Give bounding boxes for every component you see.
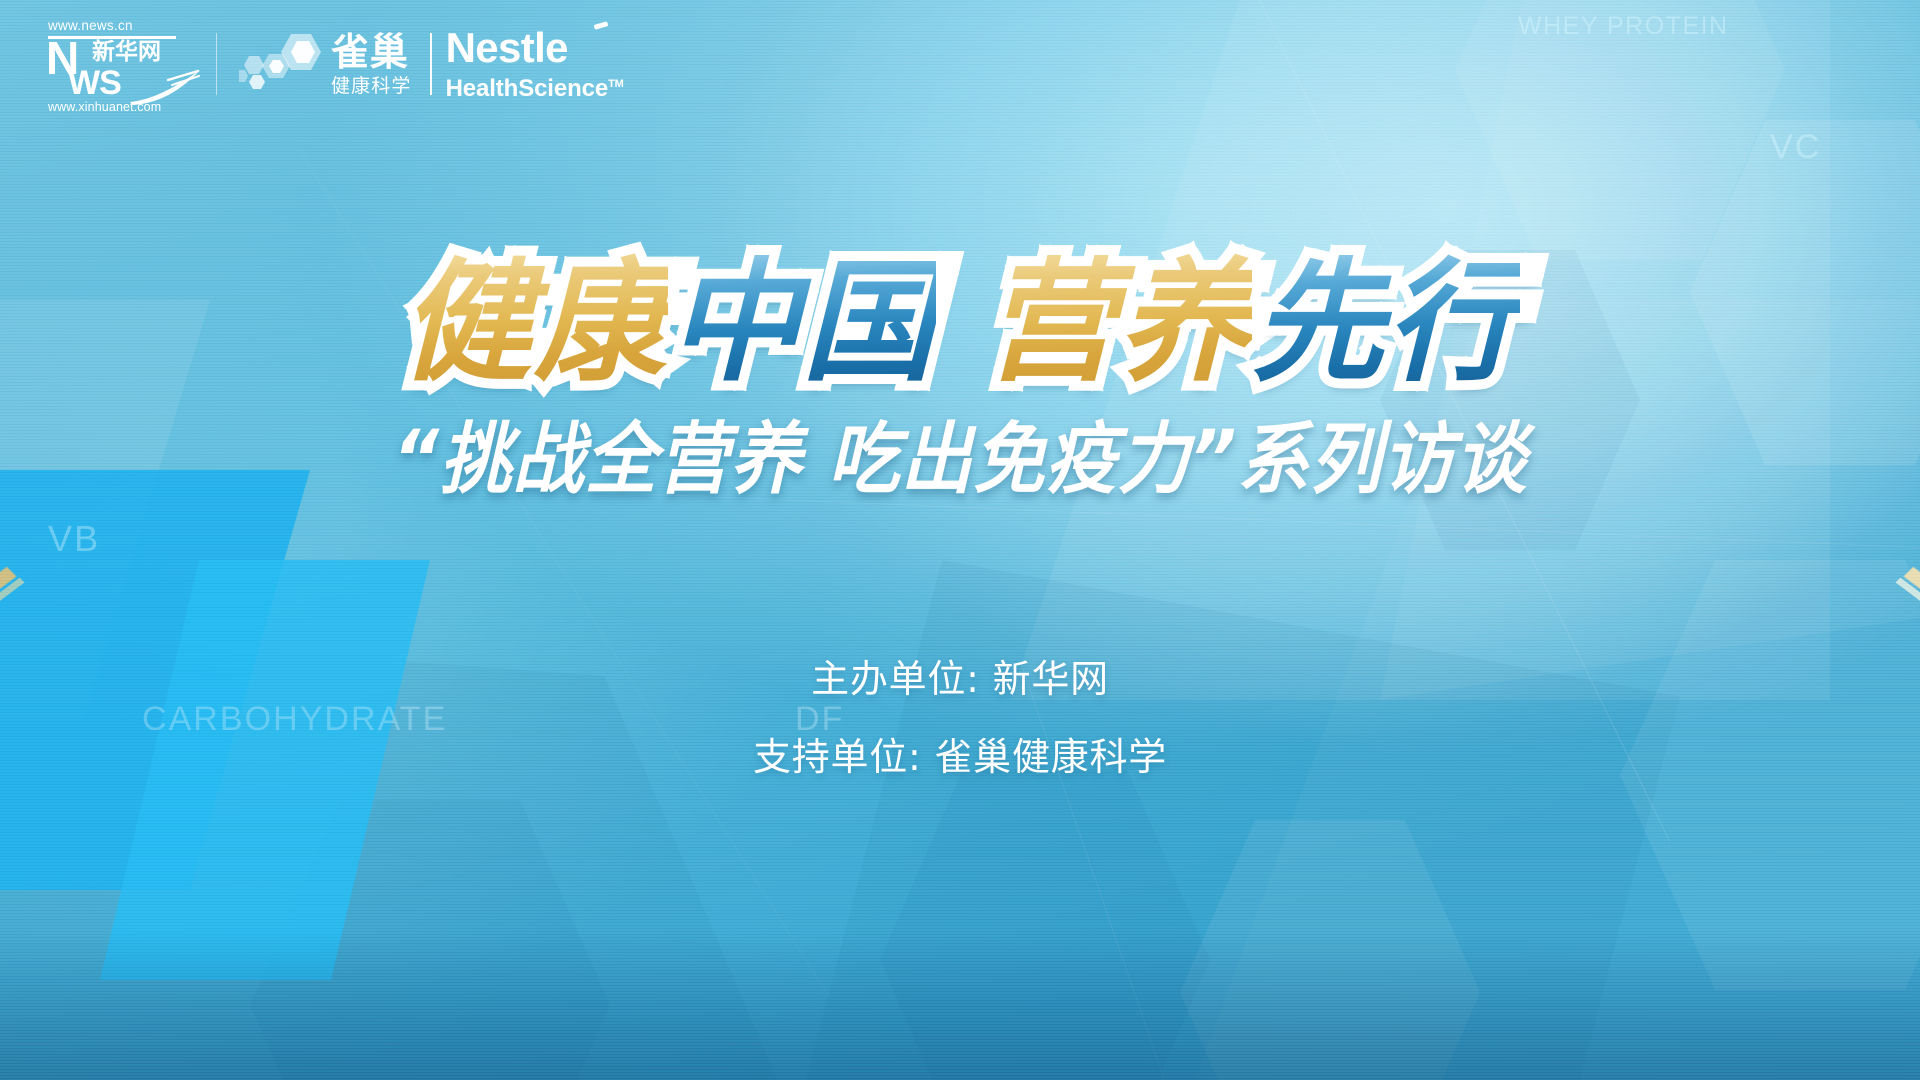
nestle-hexagon-cluster-icon	[239, 32, 325, 96]
logo-divider	[216, 33, 217, 95]
xinhua-mark-ws: WS	[68, 68, 121, 98]
watermark-whey-protein: WHEY PROTEIN	[1518, 12, 1729, 41]
nestle-en-brand-label: Nestle	[446, 24, 568, 71]
watermark-vb: VB	[48, 518, 100, 560]
main-title-part-2: 中国	[668, 246, 936, 400]
hexagon-shape-4	[880, 770, 1210, 1080]
watermark-vc: VC	[1770, 128, 1821, 167]
main-title-fill: 健康中国 营养先行	[0, 248, 1920, 398]
nestle-accent-mark	[593, 21, 608, 30]
organizer-line: 主办单位: 新华网	[0, 640, 1920, 718]
xinhua-net-logo[interactable]: www.news.cn N 新华网 WS www.xinhuanet.com	[42, 14, 182, 114]
subtitle: “挑战全营养 吃出免疫力”系列访谈	[77, 414, 1843, 506]
main-title-part-1: 健康	[400, 246, 668, 400]
nestle-en-text: Nestle HealthScienceTM	[446, 27, 624, 102]
main-title-part-4: 先行	[1252, 246, 1520, 400]
xinhua-url-top: www.news.cn	[48, 18, 133, 33]
nestle-health-science-logo[interactable]: 雀巢 健康科学 Nestle HealthScienceTM	[239, 18, 624, 110]
nestle-en-division: HealthScienceTM	[446, 71, 624, 102]
logo-bar: www.news.cn N 新华网 WS www.xinhuanet.com	[42, 14, 624, 114]
nestle-vertical-divider	[430, 33, 432, 95]
hexagon-shape-6	[250, 800, 610, 1080]
xinhua-url-bottom: www.xinhuanet.com	[48, 100, 161, 114]
nestle-cn-brand: 雀巢	[331, 32, 412, 72]
nestle-en-brand: Nestle	[446, 27, 624, 69]
hexagon-shape-1	[1455, 0, 1785, 260]
nestle-cn-division: 健康科学	[331, 75, 412, 97]
nestle-en-division-label: HealthScience	[446, 75, 609, 102]
xinhua-cn-name: 新华网	[92, 40, 182, 65]
poster-stage: WHEY PROTEIN VC VB CARBOHYDRATE DF www.n…	[0, 0, 1920, 1080]
background-decoration: WHEY PROTEIN VC VB CARBOHYDRATE DF	[0, 0, 1920, 1080]
organizer-block: 主办单位: 新华网 支持单位: 雀巢健康科学	[0, 640, 1920, 796]
facet-panel-3	[780, 560, 1680, 1080]
nestle-cn-text: 雀巢 健康科学	[331, 32, 412, 97]
bottom-shade-band	[0, 930, 1920, 1080]
nestle-trademark: TM	[608, 78, 624, 90]
supporter-line: 支持单位: 雀巢健康科学	[0, 718, 1920, 796]
hexagon-shape-5	[1180, 820, 1480, 1080]
grain-overlay	[0, 0, 1920, 1080]
main-title-part-3: 营养	[984, 246, 1252, 400]
